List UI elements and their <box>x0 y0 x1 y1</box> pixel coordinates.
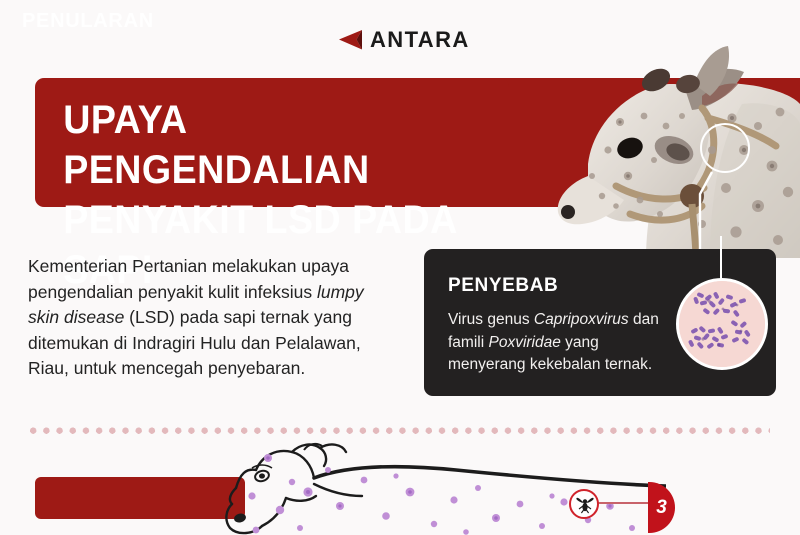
dotted-divider <box>30 427 770 435</box>
cause-text-1: Virus genus <box>448 311 534 328</box>
cause-card-heading: PENYEBAB <box>448 275 558 297</box>
brand-name: ANTARA <box>370 29 470 51</box>
vector-connector-line <box>597 502 655 504</box>
virus-leader-line <box>720 236 722 282</box>
virus-micrograph-circle-icon <box>676 278 768 370</box>
step-badge: 3 <box>648 482 675 533</box>
cause-italic-genus: Capripoxvirus <box>534 311 629 328</box>
lesion-callout-circle-icon <box>700 123 750 173</box>
cause-italic-family: Poxviridae <box>488 334 560 351</box>
cow-photograph <box>496 0 800 258</box>
step-number: 3 <box>648 482 675 533</box>
antara-arrow-logo-icon <box>337 28 363 52</box>
intro-text-1: Kementerian Pertanian melakukan upaya pe… <box>28 256 349 302</box>
fly-insect-icon <box>569 489 599 519</box>
cause-card-body: Virus genus Capripoxvirus dan famili Pox… <box>448 309 678 377</box>
spread-section-label: PENULARAN <box>22 10 154 33</box>
spotted-cow-line-art-icon <box>196 440 666 535</box>
brand-logo: ANTARA <box>337 28 470 52</box>
headline-line-1: UPAYA PENGENDALIAN <box>35 78 481 195</box>
infographic-canvas: ANTARA <box>0 0 800 533</box>
intro-paragraph: Kementerian Pertanian melakukan upaya pe… <box>28 254 388 382</box>
headline-banner: UPAYA PENGENDALIAN PENYAKIT LSD PADA SAP… <box>35 78 509 207</box>
